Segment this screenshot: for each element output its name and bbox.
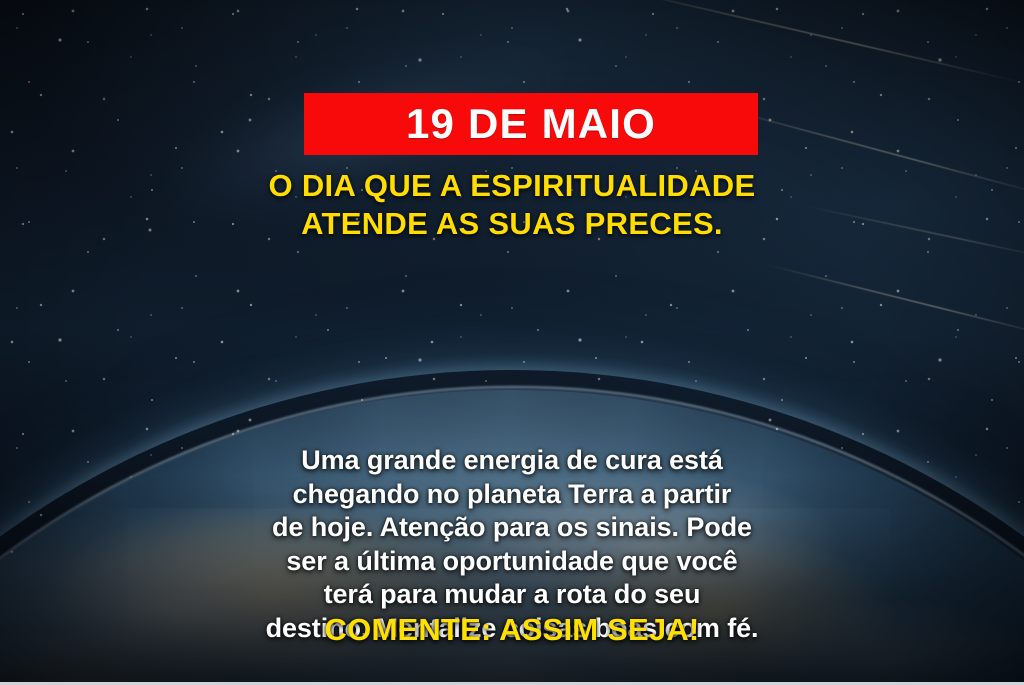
headline-line-1: O DIA QUE A ESPIRITUALIDADE [0, 167, 1024, 205]
body-line-1: Uma grande energia de cura está [0, 444, 1024, 478]
body-line-5: terá para mudar a rota do seu [0, 578, 1024, 612]
headline: O DIA QUE A ESPIRITUALIDADE ATENDE AS SU… [0, 167, 1024, 243]
poster-content: 19 DE MAIO O DIA QUE A ESPIRITUALIDADE A… [0, 0, 1024, 685]
call-to-action-text: COMENTE: ASSIM SEJA! [0, 612, 1024, 648]
poster-canvas: 19 DE MAIO O DIA QUE A ESPIRITUALIDADE A… [0, 0, 1024, 685]
body-line-3: de hoje. Atenção para os sinais. Pode [0, 511, 1024, 545]
headline-line-2: ATENDE AS SUAS PRECES. [0, 205, 1024, 243]
date-banner: 19 DE MAIO [304, 93, 758, 155]
body-line-4: ser a última oportunidade que você [0, 545, 1024, 579]
date-banner-text: 19 DE MAIO [406, 103, 656, 145]
body-line-2: chegando no planeta Terra a partir [0, 478, 1024, 512]
